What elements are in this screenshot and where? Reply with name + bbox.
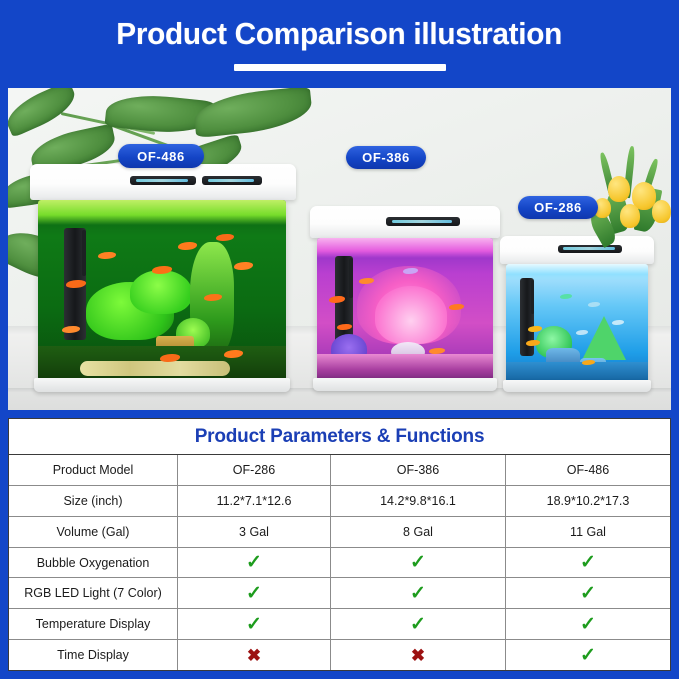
- of-486-display-led: [136, 179, 188, 182]
- table-row: Time Display ✖ ✖ ✓: [9, 640, 670, 670]
- table-row: RGB LED Light (7 Color) ✓ ✓ ✓: [9, 578, 670, 609]
- cell-of-286: 3 Gal: [178, 517, 331, 547]
- cell-of-286: ✖: [178, 640, 331, 670]
- cell-of-286: 11.2*7.1*12.6: [178, 486, 331, 516]
- check-icon: ✓: [410, 553, 426, 572]
- of-286-glass-body: [506, 264, 648, 382]
- cell-of-486: 18.9*10.2*17.3: [506, 486, 670, 516]
- check-icon: ✓: [580, 615, 596, 634]
- check-icon: ✓: [580, 553, 596, 572]
- table-row: Volume (Gal) 3 Gal 8 Gal 11 Gal: [9, 517, 670, 548]
- of-386-display-led: [392, 220, 452, 223]
- of-486-base: [34, 378, 290, 392]
- row-label: RGB LED Light (7 Color): [9, 578, 178, 608]
- flower-bloom: [620, 204, 640, 228]
- of-286-display-led: [563, 247, 615, 250]
- cell-of-486: ✓: [506, 548, 670, 578]
- cell-of-486: 11 Gal: [506, 517, 670, 547]
- check-icon: ✓: [410, 615, 426, 634]
- of-486-plant-deco-2: [130, 270, 192, 314]
- cell-of-386: ✓: [331, 578, 506, 608]
- cell-of-286: ✓: [178, 609, 331, 639]
- aquarium-of-286: [500, 236, 654, 394]
- of-386-pump-tube: [349, 258, 353, 298]
- table-row: Bubble Oxygenation ✓ ✓ ✓: [9, 548, 670, 579]
- title-underline-rule: [234, 64, 446, 71]
- product-photo: OF-486 OF-386 OF-286: [8, 88, 671, 410]
- check-icon: ✓: [410, 584, 426, 603]
- flower-bloom: [652, 200, 671, 223]
- check-icon: ✓: [580, 646, 596, 665]
- cell-of-286: ✓: [178, 578, 331, 608]
- of-286-substrate: [506, 362, 648, 382]
- cell-of-386: ✓: [331, 548, 506, 578]
- row-label: Product Model: [9, 455, 178, 485]
- of-386-led-bar: [317, 238, 493, 258]
- spec-table-title: Product Parameters & Functions: [9, 419, 670, 455]
- table-row: Size (inch) 11.2*7.1*12.6 14.2*9.8*16.1 …: [9, 486, 670, 517]
- of-486-glass-body: [38, 200, 286, 380]
- badge-of-486: OF-486: [118, 144, 204, 168]
- row-label: Temperature Display: [9, 609, 178, 639]
- cell-of-486: OF-486: [506, 455, 670, 485]
- of-286-base: [503, 380, 651, 392]
- of-386-coral-fan-2: [375, 286, 447, 344]
- aquarium-of-486: [30, 164, 296, 394]
- flower-bloom: [608, 176, 630, 202]
- cell-of-386: ✖: [331, 640, 506, 670]
- row-label: Time Display: [9, 640, 178, 670]
- cell-of-486: ✓: [506, 578, 670, 608]
- spec-table: Product Parameters & Functions Product M…: [8, 418, 671, 671]
- badge-of-386: OF-386: [346, 146, 426, 169]
- of-486-display-led-2: [208, 179, 254, 182]
- row-label: Volume (Gal): [9, 517, 178, 547]
- of-386-substrate: [317, 354, 493, 380]
- product-comparison-page: Product Comparison illustration: [0, 0, 679, 679]
- page-header: Product Comparison illustration: [0, 0, 679, 86]
- cell-of-386: 8 Gal: [331, 517, 506, 547]
- cell-of-286: ✓: [178, 548, 331, 578]
- cell-of-386: ✓: [331, 609, 506, 639]
- page-title: Product Comparison illustration: [117, 16, 563, 52]
- cross-icon: ✖: [411, 647, 425, 664]
- of-486-pump-tube: [82, 230, 86, 276]
- cell-of-386: OF-386: [331, 455, 506, 485]
- row-label: Size (inch): [9, 486, 178, 516]
- row-label: Bubble Oxygenation: [9, 548, 178, 578]
- check-icon: ✓: [246, 553, 262, 572]
- cross-icon: ✖: [247, 647, 261, 664]
- cell-of-486: ✓: [506, 609, 670, 639]
- badge-of-286: OF-286: [518, 196, 598, 219]
- cell-of-386: 14.2*9.8*16.1: [331, 486, 506, 516]
- cell-of-286: OF-286: [178, 455, 331, 485]
- check-icon: ✓: [580, 584, 596, 603]
- cell-of-486: ✓: [506, 640, 670, 670]
- of-386-glass-body: [317, 238, 493, 380]
- aquarium-of-386: [310, 206, 500, 394]
- of-386-base: [313, 378, 497, 391]
- table-row: Product Model OF-286 OF-386 OF-486: [9, 455, 670, 486]
- of-486-pebbles: [80, 361, 230, 376]
- check-icon: ✓: [246, 584, 262, 603]
- check-icon: ✓: [246, 615, 262, 634]
- table-row: Temperature Display ✓ ✓ ✓: [9, 609, 670, 640]
- of-286-pump-tube: [531, 280, 534, 314]
- of-486-led-bar: [38, 200, 286, 225]
